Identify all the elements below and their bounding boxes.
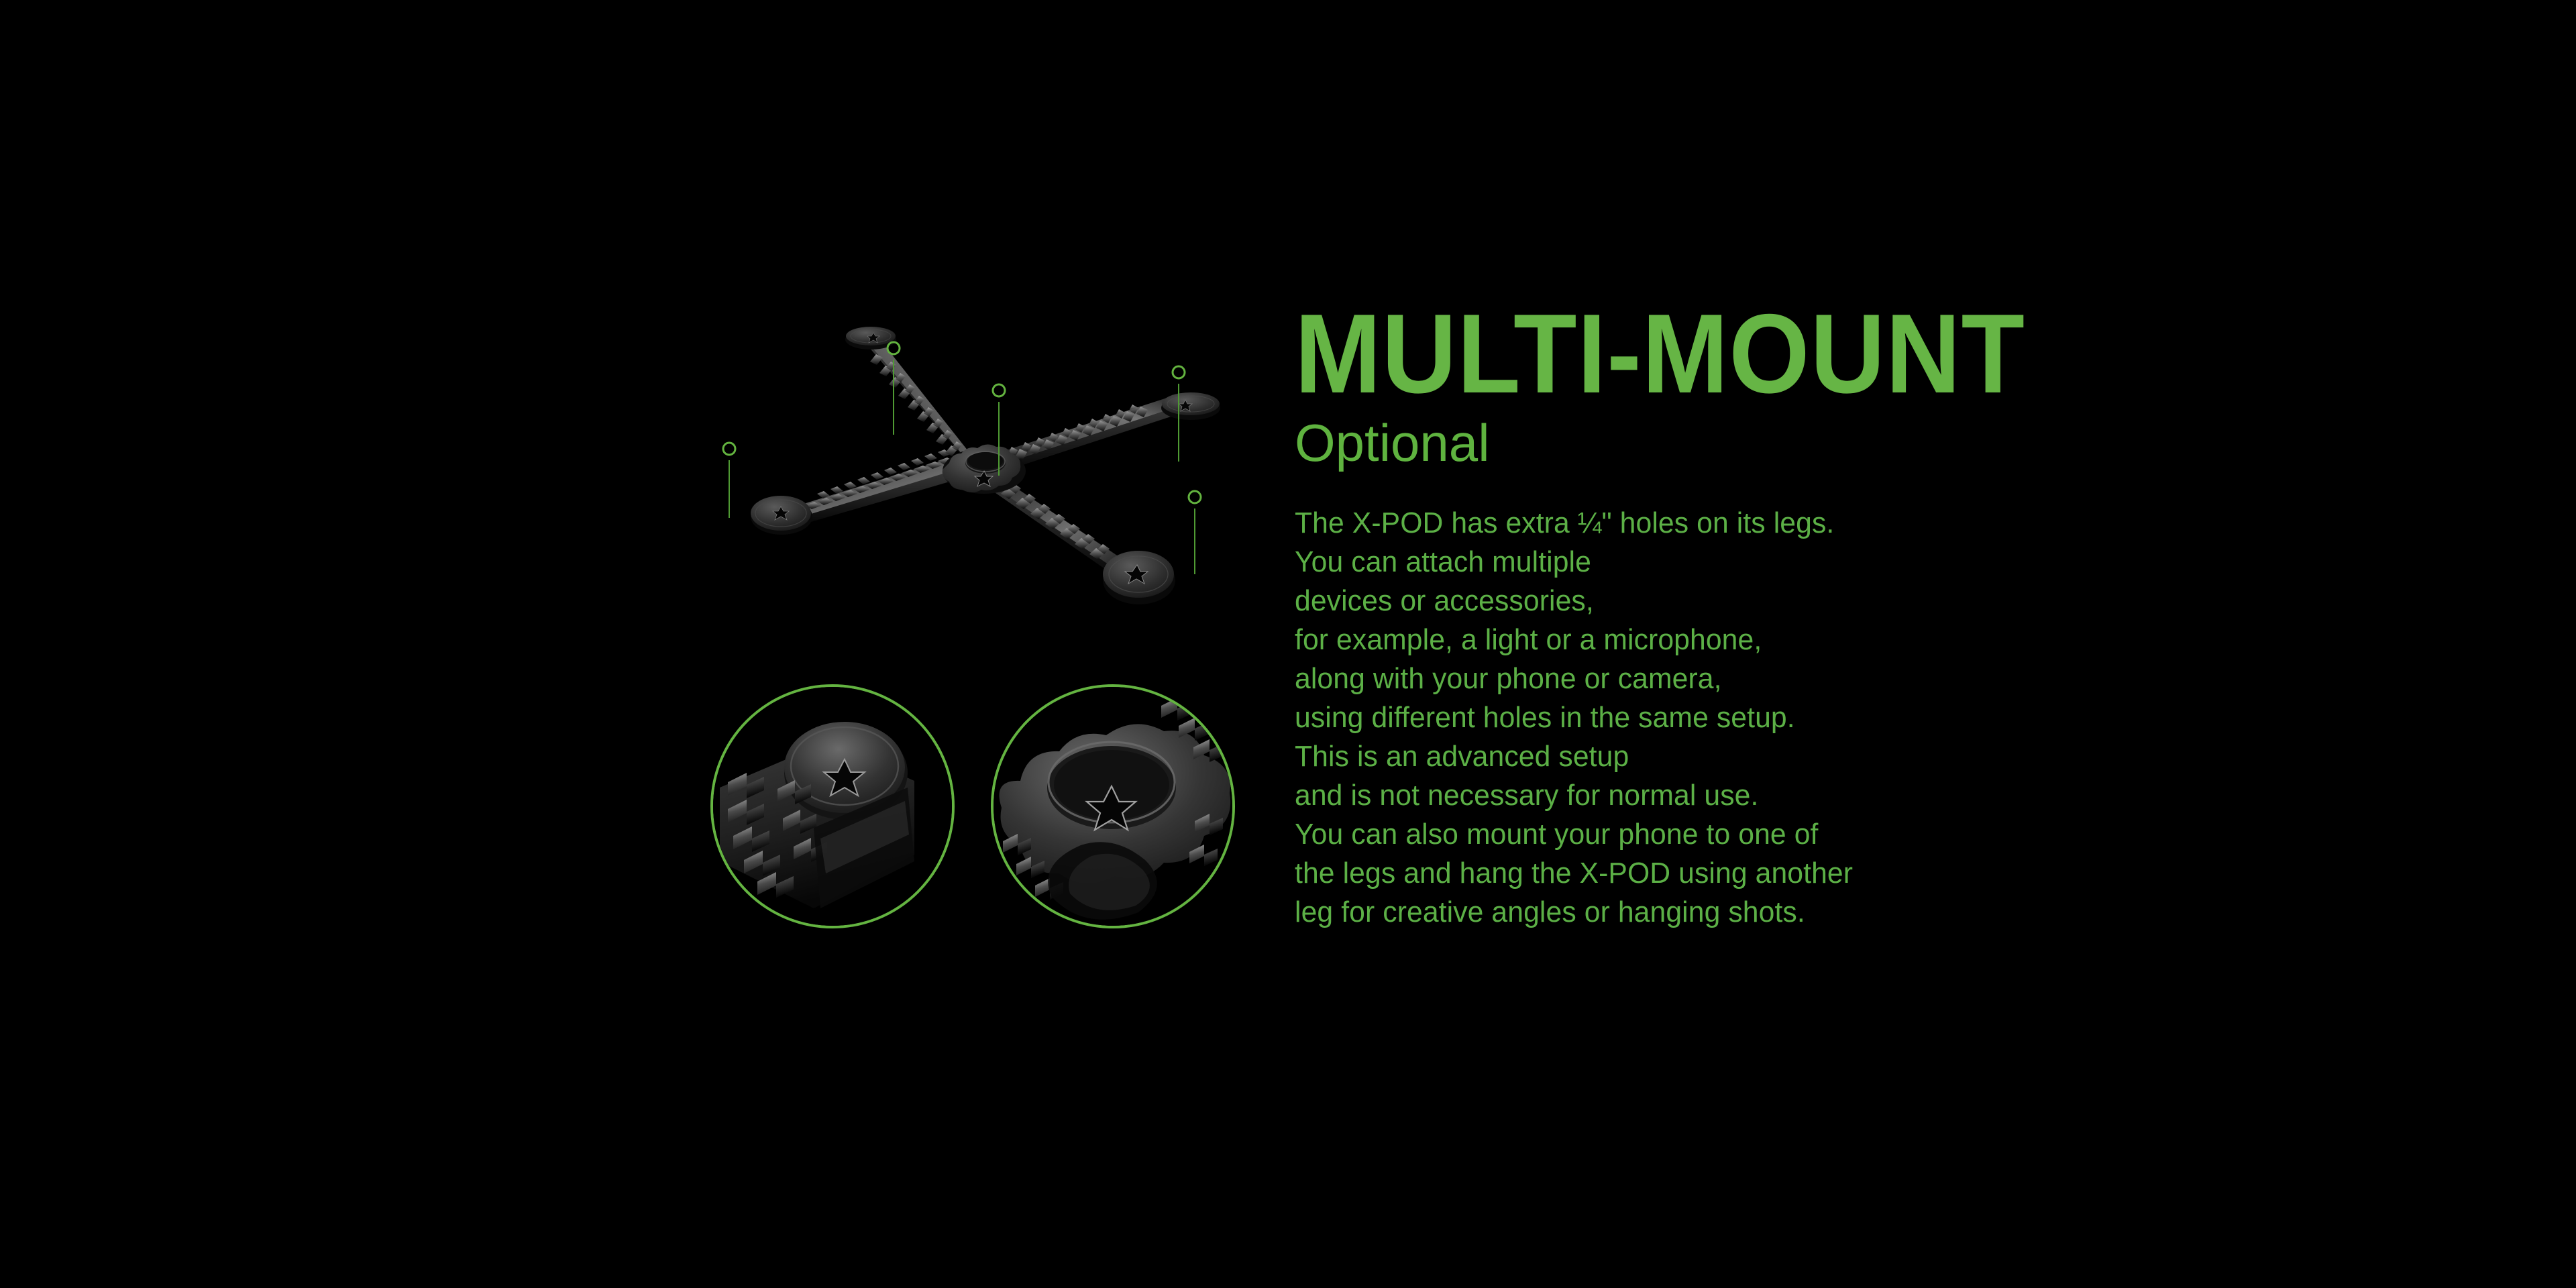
body-line: for example, a light or a microphone, [1295,621,2023,659]
leg-upper-right [988,392,1220,474]
body-line: devices or accessories, [1295,582,2023,621]
leg-upper-left [845,327,978,466]
product-stage [657,295,1261,671]
page-title: MULTI-MOUNT [1295,305,1986,402]
body-line: You can attach multiple [1295,543,2023,582]
body-line: You can also mount your phone to one of [1295,815,2023,854]
leg-pad-lower-left [751,496,812,535]
callout-left-leg-hole [723,443,735,518]
slide-root: MULTI-MOUNT Optional The X-POD has extra… [0,0,2576,1288]
leg-pad-right [1161,392,1220,420]
detail-leg-end-hole [710,684,955,928]
x-pod-product-illustration [657,295,1261,671]
body-line: leg for creative angles or hanging shots… [1295,893,2023,932]
detail-center-hub-illustration [994,687,1232,926]
body-line: using different holes in the same setup. [1295,698,2023,737]
leg-lower-left [751,449,974,535]
body-line: along with your phone or camera, [1295,659,2023,698]
body-line: This is an advanced setup [1295,737,2023,776]
body-line: The X-POD has extra ¼" holes on its legs… [1295,504,2023,543]
callout-lower-leg-hole [1189,491,1201,574]
leg-pad-lower-right [1103,551,1175,604]
detail-center-hub-hole [991,684,1235,928]
body-copy: The X-POD has extra ¼" holes on its legs… [1295,504,2046,932]
page-subtitle: Optional [1295,417,2046,469]
detail-leg-end-illustration [713,687,952,926]
body-line: the legs and hang the X-POD using anothe… [1295,854,2023,893]
body-line: and is not necessary for normal use. [1295,776,2023,815]
text-panel: MULTI-MOUNT Optional The X-POD has extra… [1295,305,2046,932]
